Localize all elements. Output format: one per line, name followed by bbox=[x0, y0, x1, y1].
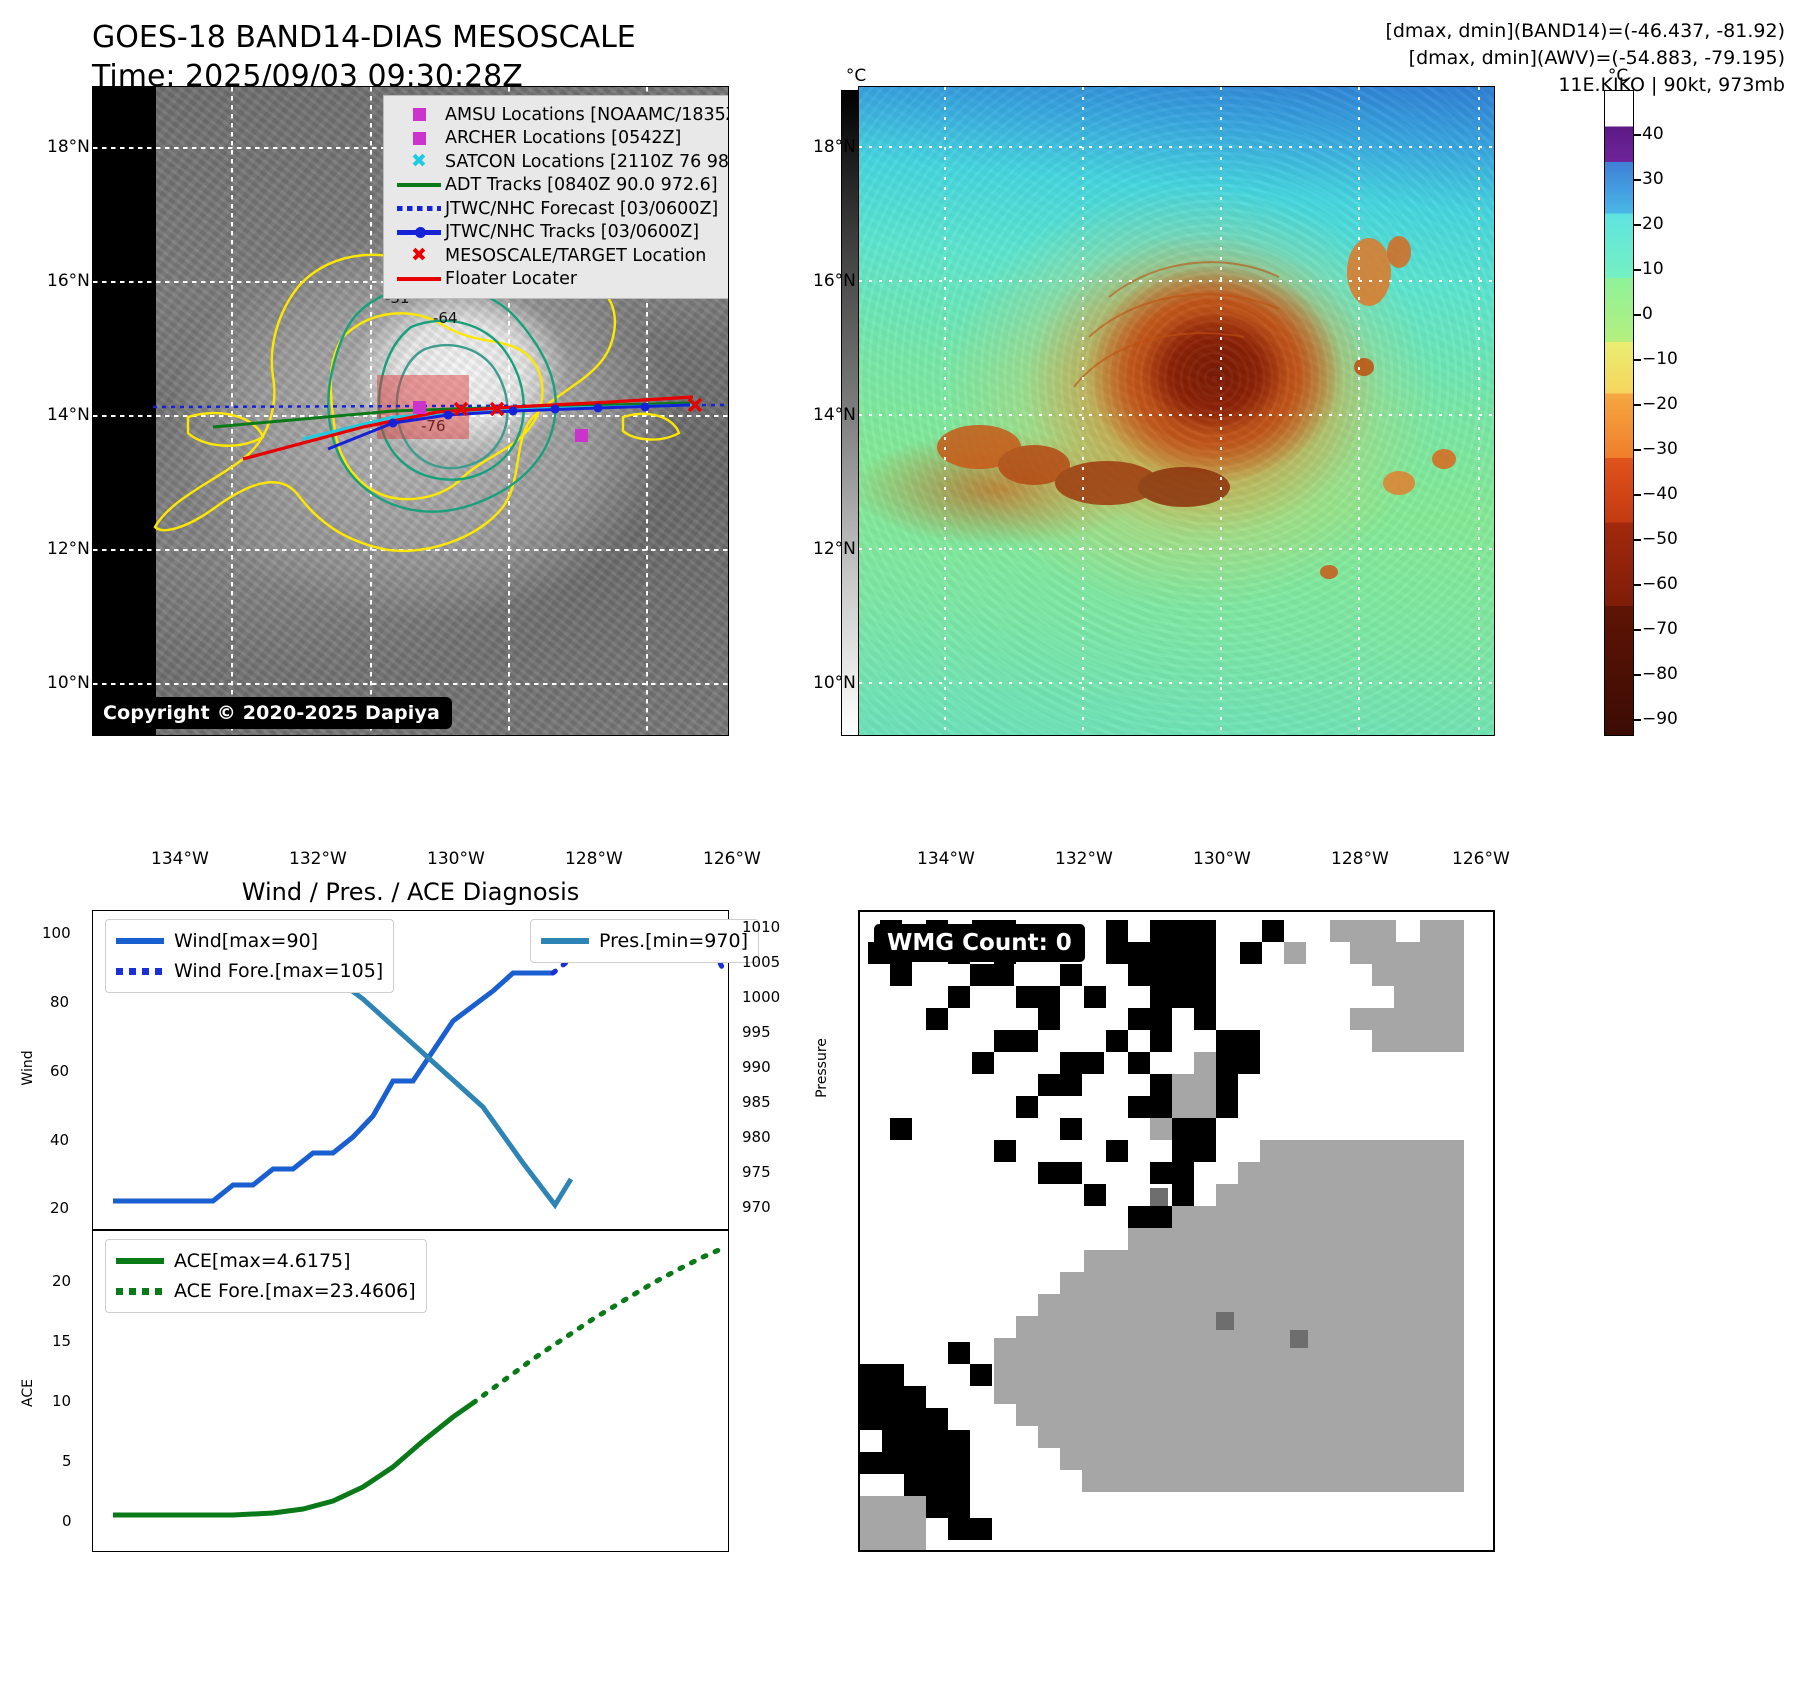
awv-features bbox=[859, 87, 1495, 736]
wind-ytick-80: 80 bbox=[50, 993, 69, 1011]
legend-item-ace-forecast: ACE Fore.[max=23.4606] bbox=[116, 1276, 416, 1306]
line-icon bbox=[541, 938, 599, 944]
legend-label: Pres.[min=970] bbox=[599, 930, 748, 952]
legend-item-wind: Wind[max=90] bbox=[116, 926, 383, 956]
awv-lon-tick-130: 130°W bbox=[1193, 849, 1251, 869]
ir-lat-tick-16: 16°N bbox=[47, 271, 90, 291]
ir-map-legend: AMSU Locations [NOAAMC/1835Z 62 990] ARC… bbox=[383, 95, 729, 299]
awv-lon-tick-134: 134°W bbox=[917, 849, 975, 869]
dotted-line-icon bbox=[116, 968, 174, 975]
ace-ytick-10: 10 bbox=[52, 1392, 71, 1410]
ace-chart[interactable]: ACE[max=4.6175] ACE Fore.[max=23.4606] bbox=[92, 1230, 729, 1552]
ir-lon-tick-126: 126°W bbox=[703, 849, 761, 869]
line-icon bbox=[116, 1258, 174, 1264]
svg-text:-64: -64 bbox=[433, 309, 458, 327]
legend-item-jtwc-tracks: JTWC/NHC Tracks [03/0600Z] bbox=[393, 221, 729, 245]
cb-tick: −30 bbox=[1642, 439, 1678, 459]
cb-tick: −70 bbox=[1642, 619, 1678, 639]
legend-item-satcon: ✖ SATCON Locations [2110Z 76 982] bbox=[393, 150, 729, 174]
cb-tick: 10 bbox=[1642, 259, 1664, 279]
legend-label: Wind Fore.[max=105] bbox=[174, 960, 383, 982]
legend-label: ACE Fore.[max=23.4606] bbox=[174, 1280, 416, 1302]
awv-satellite-map[interactable] bbox=[858, 86, 1495, 736]
legend-item-adt: ADT Tracks [0840Z 90.0 972.6] bbox=[393, 174, 729, 198]
wind-axis-label: Wind bbox=[20, 1038, 36, 1098]
cb-tick: −50 bbox=[1642, 529, 1678, 549]
cb-tick: −40 bbox=[1642, 484, 1678, 504]
pres-ytick-1000: 1000 bbox=[742, 988, 780, 1006]
awv-lon-tick-126: 126°W bbox=[1452, 849, 1510, 869]
cb-tick: 30 bbox=[1642, 169, 1664, 189]
ir-lat-tick-12: 12°N bbox=[47, 539, 90, 559]
cb-tick: 40 bbox=[1642, 124, 1664, 144]
legend-item-ace: ACE[max=4.6175] bbox=[116, 1246, 416, 1276]
pres-ytick-970: 970 bbox=[742, 1198, 771, 1216]
ir-lat-tick-10: 10°N bbox=[47, 673, 90, 693]
line-point-icon bbox=[393, 230, 445, 235]
wmg-map[interactable]: WMG Count: 0 bbox=[858, 910, 1495, 1552]
pres-ytick-980: 980 bbox=[742, 1128, 771, 1146]
pres-ytick-975: 975 bbox=[742, 1163, 771, 1181]
dotted-line-icon bbox=[116, 1288, 174, 1295]
ir-lon-tick-130: 130°W bbox=[427, 849, 485, 869]
awv-lon-tick-132: 132°W bbox=[1055, 849, 1113, 869]
ace-axis-label: ACE bbox=[20, 1363, 36, 1423]
wmg-raster bbox=[860, 912, 1493, 1550]
wind-ytick-100: 100 bbox=[42, 924, 71, 942]
legend-item-floater: Floater Locater bbox=[393, 268, 729, 292]
cb-tick: −10 bbox=[1642, 349, 1678, 369]
x-marker-icon: ✖ bbox=[393, 246, 445, 265]
ace-ytick-0: 0 bbox=[62, 1512, 72, 1530]
legend-label: Floater Locater bbox=[445, 269, 577, 289]
wind-chart-legend: Wind[max=90] Wind Fore.[max=105] bbox=[105, 919, 394, 993]
cb-tick: −80 bbox=[1642, 664, 1678, 684]
pres-ytick-990: 990 bbox=[742, 1058, 771, 1076]
legend-label: JTWC/NHC Tracks [03/0600Z] bbox=[445, 222, 699, 242]
pres-ytick-995: 995 bbox=[742, 1023, 771, 1041]
square-icon bbox=[393, 132, 445, 145]
dmax-dmin-awv: [dmax, dmin](AWV)=(-54.883, -79.195) bbox=[1385, 45, 1785, 72]
ir-lat-tick-18: 18°N bbox=[47, 137, 90, 157]
pressure-chart-legend: Pres.[min=970] bbox=[530, 919, 759, 963]
ir-lon-tick-134: 134°W bbox=[151, 849, 209, 869]
line-icon bbox=[393, 277, 445, 281]
legend-item-wind-forecast: Wind Fore.[max=105] bbox=[116, 956, 383, 986]
ir-lon-tick-132: 132°W bbox=[289, 849, 347, 869]
ace-ytick-5: 5 bbox=[62, 1452, 72, 1470]
ace-ytick-20: 20 bbox=[52, 1272, 71, 1290]
cb-tick: 20 bbox=[1642, 214, 1664, 234]
awv-lat-tick-14: 14°N bbox=[813, 405, 856, 425]
pres-ytick-985: 985 bbox=[742, 1093, 771, 1111]
legend-item-jtwc-forecast: JTWC/NHC Forecast [03/0600Z] bbox=[393, 197, 729, 221]
legend-item-archer: ARCHER Locations [0542Z] bbox=[393, 127, 729, 151]
legend-label: Wind[max=90] bbox=[174, 930, 318, 952]
awv-colorbar-unit: °C bbox=[1600, 66, 1636, 86]
awv-lat-tick-16: 16°N bbox=[813, 271, 856, 291]
legend-label: SATCON Locations [2110Z 76 982] bbox=[445, 152, 729, 172]
ir-colorbar-unit: °C bbox=[838, 66, 874, 86]
pres-ytick-1010: 1010 bbox=[742, 918, 780, 936]
legend-label: ADT Tracks [0840Z 90.0 972.6] bbox=[445, 175, 718, 195]
ir-satellite-map[interactable]: -31 -64 -76 AMSU Locations [NO bbox=[92, 86, 729, 736]
wind-pressure-chart[interactable]: Wind[max=90] Wind Fore.[max=105] Pres.[m… bbox=[92, 910, 729, 1230]
copyright-notice: Copyright © 2020-2025 Dapiya bbox=[93, 697, 452, 729]
ir-lat-tick-14: 14°N bbox=[47, 405, 90, 425]
ir-lon-tick-128: 128°W bbox=[565, 849, 623, 869]
legend-item-amsu: AMSU Locations [NOAAMC/1835Z 62 990] bbox=[393, 103, 729, 127]
pres-ytick-1005: 1005 bbox=[742, 953, 780, 971]
cb-tick: 0 bbox=[1642, 304, 1653, 324]
wmg-count-badge: WMG Count: 0 bbox=[874, 924, 1085, 962]
dmax-dmin-band14: [dmax, dmin](BAND14)=(-46.437, -81.92) bbox=[1385, 18, 1785, 45]
title-line-1: GOES-18 BAND14-DIAS MESOSCALE bbox=[92, 18, 636, 57]
page-title: GOES-18 BAND14-DIAS MESOSCALE Time: 2025… bbox=[92, 18, 636, 96]
wind-ytick-60: 60 bbox=[50, 1062, 69, 1080]
awv-lon-tick-128: 128°W bbox=[1331, 849, 1389, 869]
ace-chart-legend: ACE[max=4.6175] ACE Fore.[max=23.4606] bbox=[105, 1239, 427, 1313]
legend-item-mesoscale-target: ✖ MESOSCALE/TARGET Location bbox=[393, 244, 729, 268]
legend-label: AMSU Locations [NOAAMC/1835Z 62 990] bbox=[445, 105, 729, 125]
legend-label: MESOSCALE/TARGET Location bbox=[445, 246, 706, 266]
cb-tick: −60 bbox=[1642, 574, 1678, 594]
ace-ytick-15: 15 bbox=[52, 1332, 71, 1350]
awv-lat-tick-18: 18°N bbox=[813, 137, 856, 157]
wind-ytick-20: 20 bbox=[50, 1199, 69, 1217]
wind-ytick-40: 40 bbox=[50, 1131, 69, 1149]
cb-tick: −90 bbox=[1642, 709, 1678, 729]
legend-label: ARCHER Locations [0542Z] bbox=[445, 128, 681, 148]
cb-tick: −20 bbox=[1642, 394, 1678, 414]
dotted-line-icon bbox=[393, 206, 445, 211]
pressure-axis-label: Pressure bbox=[814, 1028, 830, 1108]
line-icon bbox=[393, 183, 445, 187]
awv-lat-tick-10: 10°N bbox=[813, 673, 856, 693]
line-icon bbox=[116, 938, 174, 944]
awv-colorbar bbox=[1604, 90, 1634, 736]
legend-label: ACE[max=4.6175] bbox=[174, 1250, 351, 1272]
x-marker-icon: ✖ bbox=[393, 152, 445, 171]
diagnosis-title: Wind / Pres. / ACE Diagnosis bbox=[92, 878, 729, 906]
awv-lat-tick-12: 12°N bbox=[813, 539, 856, 559]
legend-item-pressure: Pres.[min=970] bbox=[541, 926, 748, 956]
legend-label: JTWC/NHC Forecast [03/0600Z] bbox=[445, 199, 718, 219]
square-icon bbox=[393, 108, 445, 121]
